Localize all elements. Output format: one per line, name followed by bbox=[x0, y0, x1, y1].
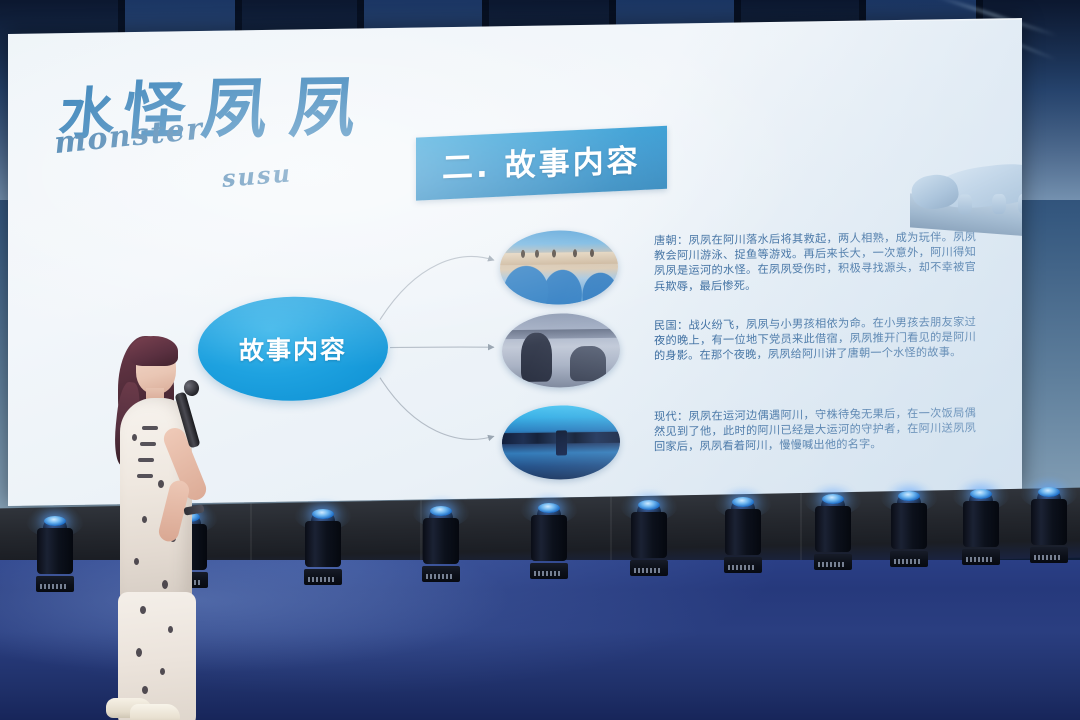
moving-head-light bbox=[34, 514, 76, 592]
moving-head-light bbox=[628, 498, 670, 576]
conference-stage-photo: 水怪夙夙 monster susu 二. 故事内容 bbox=[0, 0, 1080, 720]
branch-text-republic: 民国：战火纷飞，夙夙与小男孩相依为命。在小男孩去朋友家过夜的晚上，有一位地下党员… bbox=[654, 314, 976, 364]
branch-text-modern: 现代：夙夙在运河边偶遇阿川，守株待兔无果后，在一次饭局偶然见到了他，此时的阿川已… bbox=[654, 405, 976, 455]
moving-head-light bbox=[1028, 485, 1070, 563]
branch-text-tang: 唐朝：夙夙在阿川落水后将其救起，两人相熟，成为玩伴。夙夙教会阿川游泳、捉鱼等游戏… bbox=[654, 229, 976, 294]
slide-title-text: 二. 故事内容 bbox=[442, 135, 641, 187]
moving-head-light bbox=[888, 489, 930, 567]
moving-head-light bbox=[812, 492, 854, 570]
presenter-hair-front bbox=[130, 336, 178, 366]
moving-head-light bbox=[960, 487, 1002, 565]
brand-logo: 水怪夙夙 monster susu bbox=[54, 52, 384, 186]
moving-head-light bbox=[302, 507, 344, 585]
logo-latin-susu: susu bbox=[221, 158, 293, 193]
slide-title-banner: 二. 故事内容 bbox=[416, 126, 667, 201]
thumbnail-tang-dynasty-bridge bbox=[500, 230, 618, 305]
moving-head-light bbox=[420, 504, 462, 582]
moving-head-light bbox=[722, 495, 764, 573]
thumbnail-republican-era-scene bbox=[502, 313, 620, 388]
presenter bbox=[96, 330, 246, 720]
center-node-label: 故事内容 bbox=[239, 330, 347, 367]
presenter-shoe-right bbox=[130, 704, 180, 720]
moving-head-light bbox=[528, 501, 570, 579]
thumbnail-modern-canal-night bbox=[502, 405, 620, 480]
stone-water-beast-statue bbox=[906, 147, 1022, 233]
